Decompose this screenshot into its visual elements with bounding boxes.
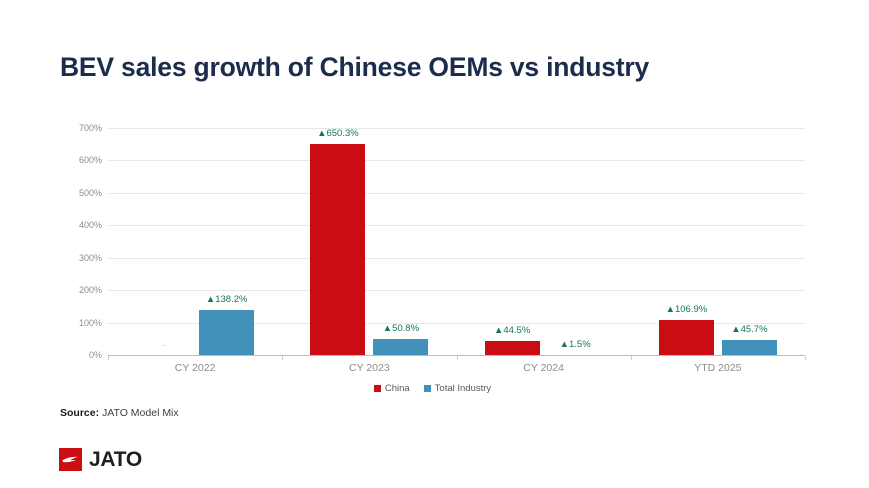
page-title: BEV sales growth of Chinese OEMs vs indu…: [60, 52, 649, 83]
y-axis-tick-label: 100%: [79, 318, 102, 328]
bar-value-label: ▲138.2%: [206, 294, 248, 305]
y-axis-tick-label: 300%: [79, 253, 102, 263]
jato-logo-text: JATO: [89, 449, 142, 470]
y-axis-tick-label: 0%: [89, 350, 102, 360]
jato-arrow-icon: [59, 448, 82, 471]
x-axis-category-label: CY 2022: [175, 362, 216, 374]
bar-group: ▲106.9%▲45.7%: [631, 128, 805, 355]
legend-item[interactable]: China: [374, 383, 410, 394]
source-note: Source: JATO Model Mix: [60, 407, 179, 419]
x-axis-category-label: YTD 2025: [694, 362, 741, 374]
y-axis-tick-label: 400%: [79, 220, 102, 230]
bar-value-label: ▲650.3%: [317, 128, 359, 139]
bar-group: -▲138.2%: [108, 128, 282, 355]
x-axis-tick: [631, 356, 632, 360]
bar-value-label: ▲1.5%: [560, 339, 591, 350]
legend-swatch-icon: [424, 385, 431, 392]
chart-legend: ChinaTotal Industry: [60, 383, 805, 394]
plot-area: CY 2022-▲138.2%CY 2023▲650.3%▲50.8%CY 20…: [108, 128, 805, 356]
y-axis: 700%600%500%400%300%200%100%0%: [60, 128, 106, 356]
y-axis-tick-label: 200%: [79, 285, 102, 295]
legend-label: Total Industry: [435, 383, 492, 394]
bar-total-industry[interactable]: [199, 310, 254, 355]
x-axis-tick: [805, 356, 806, 360]
bar-total-industry[interactable]: [373, 339, 428, 355]
bar-china[interactable]: [659, 320, 714, 355]
x-axis-category-label: CY 2024: [523, 362, 564, 374]
bar-china[interactable]: [485, 341, 540, 355]
bar-group: ▲650.3%▲50.8%: [282, 128, 456, 355]
bar-value-label: ▲45.7%: [731, 324, 767, 335]
chart-slide: BEV sales growth of Chinese OEMs vs indu…: [0, 0, 869, 488]
bar-group: ▲44.5%▲1.5%: [457, 128, 631, 355]
y-axis-tick-label: 500%: [79, 188, 102, 198]
x-axis-tick: [282, 356, 283, 360]
source-value: JATO Model Mix: [102, 407, 179, 419]
bar-value-label: ▲106.9%: [666, 304, 708, 315]
bar-china[interactable]: [310, 144, 365, 355]
x-axis-tick: [108, 356, 109, 360]
legend-label: China: [385, 383, 410, 394]
legend-item[interactable]: Total Industry: [424, 383, 492, 394]
x-axis-category-label: CY 2023: [349, 362, 390, 374]
y-axis-tick-label: 600%: [79, 155, 102, 165]
y-axis-tick-label: 700%: [79, 123, 102, 133]
source-label: Source:: [60, 407, 99, 419]
bar-total-industry[interactable]: [722, 340, 777, 355]
chart-container: 700%600%500%400%300%200%100%0% CY 2022-▲…: [60, 128, 805, 378]
bar-value-label: ▲50.8%: [383, 323, 419, 334]
bar-value-label: -: [162, 340, 165, 350]
jato-logo: JATO: [59, 448, 142, 471]
legend-swatch-icon: [374, 385, 381, 392]
bar-value-label: ▲44.5%: [494, 325, 530, 336]
x-axis-tick: [457, 356, 458, 360]
